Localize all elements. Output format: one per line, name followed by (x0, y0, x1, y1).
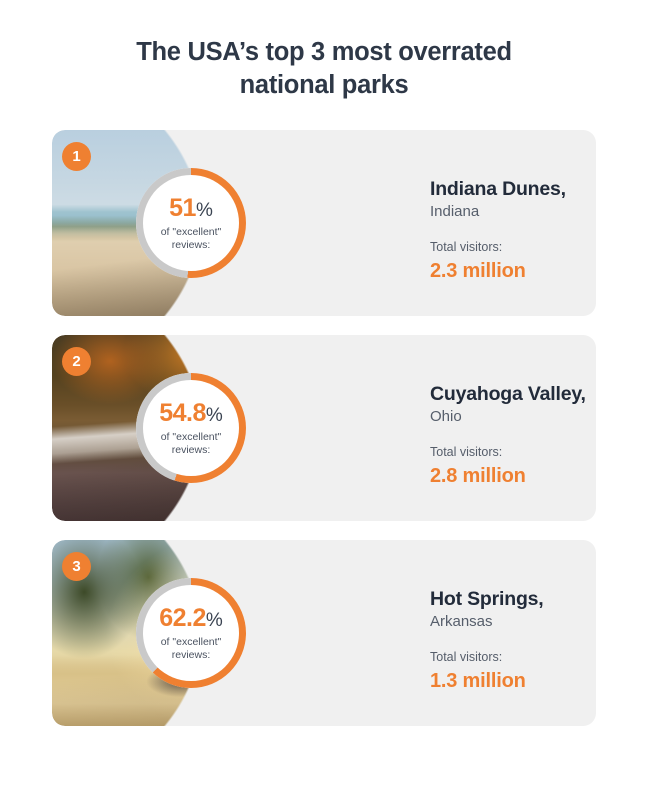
park-card[interactable]: 3 62.2% of "excellent" reviews: Hot Spri… (52, 540, 596, 726)
page-title-line2: national parks (70, 69, 578, 102)
infographic-page: The USA’s top 3 most overrated national … (0, 0, 648, 726)
rank-badge-number: 2 (72, 354, 80, 369)
total-visitors-value: 2.8 million (430, 464, 596, 488)
donut-caption-line2: reviews: (159, 444, 223, 457)
donut-caption: of "excellent" reviews: (159, 636, 223, 662)
park-name: Hot Springs, (430, 588, 596, 611)
donut-caption-line2: reviews: (159, 649, 223, 662)
total-visitors-value: 2.3 million (430, 259, 596, 283)
total-visitors-label: Total visitors: (430, 240, 596, 255)
donut-percent-row: 54.8% (159, 401, 223, 426)
donut-caption-line2: reviews: (161, 239, 222, 252)
park-name: Cuyahoga Valley, (430, 383, 596, 406)
park-name: Indiana Dunes, (430, 178, 596, 201)
donut-caption-line1: of "excellent" (159, 636, 223, 649)
donut-label-group: 54.8% of "excellent" reviews: (159, 399, 223, 457)
donut-caption: of "excellent" reviews: (161, 226, 222, 252)
page-title: The USA’s top 3 most overrated national … (0, 0, 648, 102)
total-visitors-label: Total visitors: (430, 650, 596, 665)
park-info: Cuyahoga Valley, Ohio Total visitors: 2.… (374, 335, 596, 521)
donut-percent-sign: % (206, 610, 223, 631)
park-state: Arkansas (430, 613, 596, 632)
donut-percent-sign: % (196, 200, 213, 221)
donut-percent-number: 54.8 (159, 399, 206, 427)
donut-percent-sign: % (206, 405, 223, 426)
total-visitors-value: 1.3 million (430, 669, 596, 693)
park-info: Hot Springs, Arkansas Total visitors: 1.… (374, 540, 596, 726)
page-title-line1: The USA’s top 3 most overrated (136, 38, 511, 66)
park-state: Indiana (430, 203, 596, 222)
park-state: Ohio (430, 408, 596, 427)
donut-label-group: 62.2% of "excellent" reviews: (159, 604, 223, 662)
park-info: Indiana Dunes, Indiana Total visitors: 2… (374, 130, 596, 316)
rank-badge-number: 3 (72, 559, 80, 574)
excellent-reviews-donut: 51% of "excellent" reviews: (136, 168, 246, 278)
park-card[interactable]: 2 54.8% of "excellent" reviews: Cuyahoga… (52, 335, 596, 521)
donut-caption-line1: of "excellent" (161, 226, 222, 239)
rank-badge-number: 1 (72, 149, 80, 164)
excellent-reviews-donut: 54.8% of "excellent" reviews: (136, 373, 246, 483)
donut-label-group: 51% of "excellent" reviews: (161, 194, 222, 252)
donut-percent-row: 62.2% (159, 606, 223, 631)
total-visitors-label: Total visitors: (430, 445, 596, 460)
excellent-reviews-donut: 62.2% of "excellent" reviews: (136, 578, 246, 688)
donut-percent-row: 51% (161, 196, 222, 221)
donut-caption-line1: of "excellent" (159, 431, 223, 444)
park-card-list: 1 51% of "excellent" reviews: Indiana Du… (0, 130, 648, 726)
park-card[interactable]: 1 51% of "excellent" reviews: Indiana Du… (52, 130, 596, 316)
donut-caption: of "excellent" reviews: (159, 431, 223, 457)
donut-percent-number: 62.2 (159, 604, 206, 632)
donut-percent-number: 51 (169, 194, 196, 222)
